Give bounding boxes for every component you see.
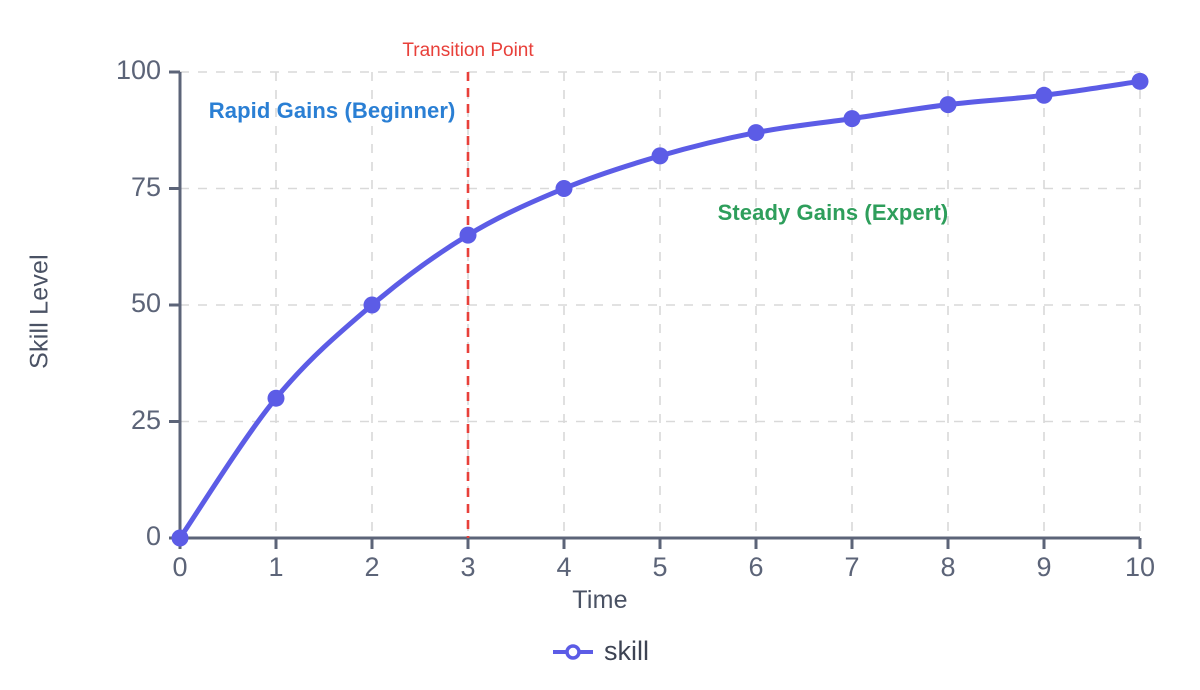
legend-entry-skill[interactable]: skill [551,636,649,667]
learning-curve-chart: Time Skill Level 0255075100 012345678910… [0,0,1200,690]
y-axis-title: Skill Level [26,212,55,412]
gridlines-group [180,72,1140,548]
x-tick-label: 4 [534,552,594,583]
x-tick-label: 2 [342,552,402,583]
data-point-marker[interactable] [364,297,381,314]
x-tick-label: 9 [1014,552,1074,583]
y-tick-label: 50 [81,288,161,319]
x-axis-title: Time [0,586,1200,615]
data-point-marker[interactable] [652,147,669,164]
data-point-marker[interactable] [268,390,285,407]
data-point-marker[interactable] [844,110,861,127]
y-tick-label: 25 [81,405,161,436]
transition-point-label: Transition Point [348,40,588,62]
x-tick-label: 8 [918,552,978,583]
data-point-marker[interactable] [172,530,189,547]
legend-label: skill [604,636,649,667]
y-tick-label: 0 [81,521,161,552]
y-tick-label: 75 [81,172,161,203]
data-point-marker[interactable] [748,124,765,141]
data-point-marker[interactable] [940,96,957,113]
x-tick-label: 1 [246,552,306,583]
beginner-annotation: Rapid Gains (Beginner) [209,98,456,124]
expert-annotation: Steady Gains (Expert) [718,200,949,226]
x-tick-label: 7 [822,552,882,583]
data-point-marker[interactable] [460,227,477,244]
data-point-marker[interactable] [1132,73,1149,90]
x-tick-label: 5 [630,552,690,583]
axis-ticks-group [169,72,1140,549]
x-tick-label: 6 [726,552,786,583]
data-point-marker[interactable] [556,180,573,197]
legend-marker-icon [551,642,595,662]
x-tick-label: 10 [1110,552,1170,583]
x-tick-label: 3 [438,552,498,583]
x-tick-label: 0 [150,552,210,583]
chart-legend: skill [0,636,1200,667]
y-tick-label: 100 [81,55,161,86]
data-point-marker[interactable] [1036,87,1053,104]
